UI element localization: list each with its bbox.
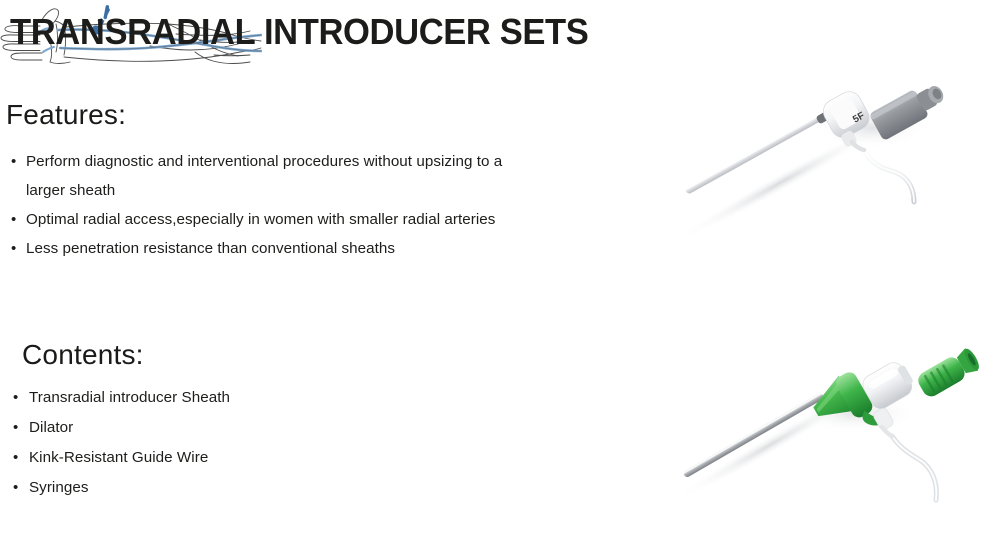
- bullet-icon: •: [13, 443, 18, 473]
- features-item-text: Optimal radial access,especially in wome…: [26, 205, 531, 234]
- list-item: • Optimal radial access,especially in wo…: [11, 205, 531, 234]
- contents-list: • Transradial introducer Sheath • Dilato…: [13, 383, 313, 503]
- green-introducer-sheath-photo: [656, 288, 986, 528]
- bullet-icon: •: [11, 205, 16, 234]
- page-title: TRANSRADIAL INTRODUCER SETS: [10, 14, 588, 50]
- contents-item-text: Kink-Resistant Guide Wire: [29, 449, 208, 466]
- contents-item-text: Transradial introducer Sheath: [29, 389, 230, 406]
- list-item: • Syringes: [13, 473, 313, 503]
- slide-canvas: TRANSRADIAL INTRODUCER SETS Features: • …: [0, 0, 1000, 536]
- features-item-text: Perform diagnostic and interventional pr…: [26, 147, 531, 205]
- white-introducer-sheath-photo: 5F: [656, 16, 986, 266]
- bullet-icon: •: [11, 234, 16, 263]
- bullet-icon: •: [13, 413, 18, 443]
- features-item-text: Less penetration resistance than convent…: [26, 234, 531, 263]
- bullet-icon: •: [13, 383, 18, 413]
- list-item: • Kink-Resistant Guide Wire: [13, 443, 313, 473]
- contents-item-text: Syringes: [29, 479, 89, 496]
- bullet-icon: •: [13, 473, 18, 503]
- list-item: • Transradial introducer Sheath: [13, 383, 313, 413]
- bullet-icon: •: [11, 147, 16, 176]
- list-item: • Perform diagnostic and interventional …: [11, 147, 531, 205]
- contents-heading: Contents:: [22, 341, 144, 369]
- contents-item-text: Dilator: [29, 419, 73, 436]
- list-item: • Dilator: [13, 413, 313, 443]
- features-heading: Features:: [6, 101, 126, 129]
- features-list: • Perform diagnostic and interventional …: [11, 147, 531, 263]
- list-item: • Less penetration resistance than conve…: [11, 234, 531, 263]
